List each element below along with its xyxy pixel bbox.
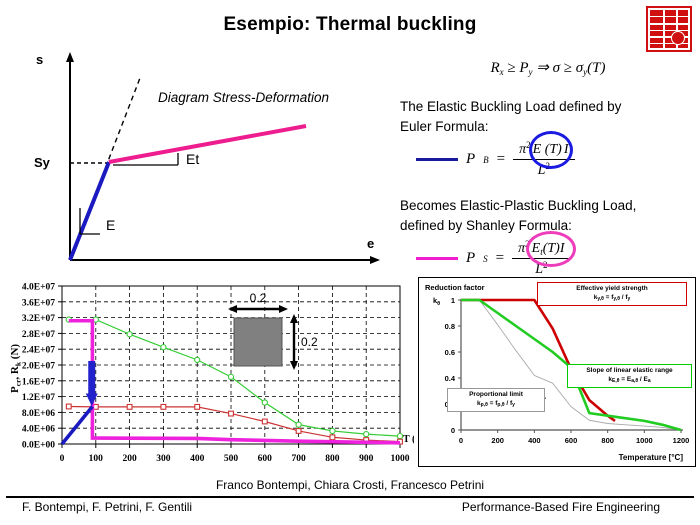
shanley-Et: E: [530, 241, 541, 256]
reduction-factor-chart: Reduction factorkθ00.20.40.60.8102004006…: [418, 277, 696, 467]
y-tick-label: 8.0E+06: [22, 409, 55, 419]
stress-axis-label: s: [36, 52, 43, 67]
data-point: [330, 435, 335, 440]
callout-formula: kp,θ = fp,θ / fy: [451, 400, 541, 409]
stress-deformation-diagram: s e Sy Diagram Stress-Deformation E Et: [18, 48, 398, 280]
section-width-label: 0.2: [250, 291, 267, 305]
x-tick-label: 300: [156, 454, 171, 464]
x-tick-label: 400: [190, 454, 205, 464]
y-tick-label: 1.2E+07: [22, 393, 55, 403]
seal-inner: [650, 10, 688, 48]
eq-P: P: [519, 60, 528, 76]
euler-numerator: π2E (T)I: [513, 140, 574, 160]
data-point: [127, 332, 132, 337]
x-tick-label: 600: [565, 436, 578, 445]
y-tick-label: 2.8E+07: [22, 330, 55, 340]
eq-ge2: ≥: [560, 60, 576, 76]
callout-formula: ky,θ = fy,θ / fy: [541, 294, 683, 303]
y-tick-label: 1: [451, 296, 455, 305]
eq-of-T: (T): [587, 60, 605, 76]
callout-title: Effective yield strength: [541, 285, 683, 294]
shanley-text-line2: defined by Shanley Formula:: [400, 218, 696, 234]
shanley-symbol: P: [466, 250, 475, 267]
euler-text-line1: The Elastic Buckling Load defined by: [400, 99, 696, 115]
shanley-equals: =: [496, 250, 504, 267]
seal-stamp-logo: [646, 6, 692, 52]
euler-E-of-T: E (T): [531, 142, 564, 157]
x-tick-label: 0: [60, 454, 65, 464]
shanley-of-T: (T): [543, 241, 560, 256]
section-height-label: 0.2: [301, 335, 318, 349]
data-point: [262, 419, 267, 424]
data-point: [66, 404, 71, 409]
authors-line: Franco Bontempi, Chiara Crosti, Francesc…: [0, 478, 700, 492]
x-tick-label: 900: [359, 454, 374, 464]
x-tick-label: 500: [224, 454, 239, 464]
shanley-pi-sup: 2: [525, 239, 530, 249]
data-point: [195, 357, 200, 362]
buckling-load-chart: 0.0E+004.0E+068.0E+061.2E+071.6E+072.0E+…: [4, 276, 414, 476]
elastic-modulus-label: E: [106, 217, 115, 233]
y-tick-label: 1.6E+07: [22, 377, 55, 387]
data-point: [296, 422, 301, 427]
euler-denominator: L2: [513, 160, 574, 179]
data-point: [397, 434, 402, 439]
euler-L-sup: 2: [545, 161, 550, 171]
euler-legend-line: [416, 158, 458, 161]
x-tick-label: 1000: [636, 436, 653, 445]
euler-symbol: P: [466, 151, 475, 168]
shanley-legend-line: [416, 257, 458, 260]
strain-axis-label: e: [367, 236, 374, 251]
effective-yield-strength-callout: Effective yield strengthky,θ = fy,θ / fy: [537, 282, 687, 306]
slope-linear-elastic-range-callout: Slope of linear elastic rangekE,θ = Ea,θ…: [567, 364, 692, 388]
page-title: Esempio: Thermal buckling: [0, 14, 700, 36]
data-point: [364, 432, 369, 437]
x-tick-label: 800: [325, 454, 340, 464]
eq-implies: ⇒: [533, 60, 553, 76]
shanley-symbol-sub: S: [483, 254, 488, 264]
euler-text-line2: Euler Formula:: [400, 119, 696, 135]
data-point: [262, 400, 267, 405]
euler-I: I: [564, 142, 569, 157]
y-tick-label: 0.4: [445, 374, 456, 383]
seal-dot: [671, 31, 685, 45]
euler-pi-sup: 2: [526, 140, 531, 150]
y-tick-label: 0: [451, 426, 455, 435]
y-tick-label: 2.0E+07: [22, 362, 55, 372]
footer-divider: [6, 496, 694, 498]
y-tick-label: 0.8: [445, 322, 455, 331]
tangent-modulus-label: Et: [186, 151, 199, 167]
eq-ge1: ≥: [504, 60, 520, 76]
x-axis-label: Temperature [°C]: [619, 453, 684, 462]
data-point: [161, 345, 166, 350]
data-point: [195, 404, 200, 409]
shanley-text-line1: Becomes Elastic-Plastic Buckling Load,: [400, 198, 696, 214]
shanley-numerator: π2Et(T)I: [512, 239, 570, 259]
diagram-caption: Diagram Stress-Deformation: [158, 90, 329, 105]
yield-stress-label: Sy: [34, 155, 50, 170]
x-tick-label: 800: [601, 436, 614, 445]
shanley-L: L: [535, 262, 543, 277]
y-axis-label: Pcr, Rk (N): [9, 344, 23, 393]
data-point: [296, 429, 301, 434]
y-axis-label: kθ: [433, 296, 440, 307]
chart-title: Reduction factor: [425, 283, 485, 292]
x-tick-label: 200: [491, 436, 504, 445]
y-tick-label: 0.6: [445, 348, 455, 357]
callout-title: Proportional limit: [451, 391, 541, 400]
footer-right-text: Performance-Based Fire Engineering: [462, 500, 660, 514]
data-point: [229, 411, 234, 416]
y-tick-label: 0.0E+00: [22, 441, 55, 451]
x-tick-label: 700: [291, 454, 306, 464]
euler-formula: PB = π2E (T)I L2: [416, 140, 696, 180]
data-point: [161, 404, 166, 409]
x-tick-label: 1000: [391, 454, 410, 464]
y-tick-label: 2.4E+07: [22, 346, 55, 356]
shanley-denominator: L2: [512, 259, 570, 278]
data-point: [228, 374, 233, 379]
shanley-formula: PS = π2Et(T)I L2: [416, 239, 696, 279]
eq-R: R: [490, 60, 499, 76]
eq-sigma: σ: [553, 60, 560, 76]
y-tick-label: 3.2E+07: [22, 314, 55, 324]
x-tick-label: 600: [258, 454, 273, 464]
y-tick-label: 4.0E+07: [22, 283, 55, 293]
right-text-column: Rx ≥ Py ⇒ σ ≥ σy(T) The Elastic Buckling…: [400, 58, 696, 279]
callout-formula: kE,θ = Ea,θ / Ea: [571, 376, 688, 385]
callout-title: Slope of linear elastic range: [571, 367, 688, 376]
y-tick-label: 3.6E+07: [22, 298, 55, 308]
euler-symbol-sub: B: [483, 155, 489, 165]
x-tick-label: 200: [122, 454, 137, 464]
x-tick-label: 400: [528, 436, 541, 445]
shanley-I: I: [560, 241, 565, 256]
x-tick-label: 100: [89, 454, 104, 464]
y-tick-label: 4.0E+06: [22, 425, 55, 435]
square-cross-section: [234, 318, 282, 366]
euler-equals: =: [497, 151, 505, 168]
yield-condition-equation: Rx ≥ Py ⇒ σ ≥ σy(T): [400, 58, 696, 77]
shanley-L-sup: 2: [543, 260, 548, 270]
data-point: [330, 428, 335, 433]
footer-left-text: F. Bontempi, F. Petrini, F. Gentili: [22, 500, 192, 514]
data-point: [127, 404, 132, 409]
x-axis-label: T (°C): [403, 434, 414, 445]
x-tick-label: 0: [459, 436, 463, 445]
proportional-limit-callout: Proportional limitkp,θ = fp,θ / fy: [447, 388, 545, 412]
x-tick-label: 1200: [673, 436, 690, 445]
